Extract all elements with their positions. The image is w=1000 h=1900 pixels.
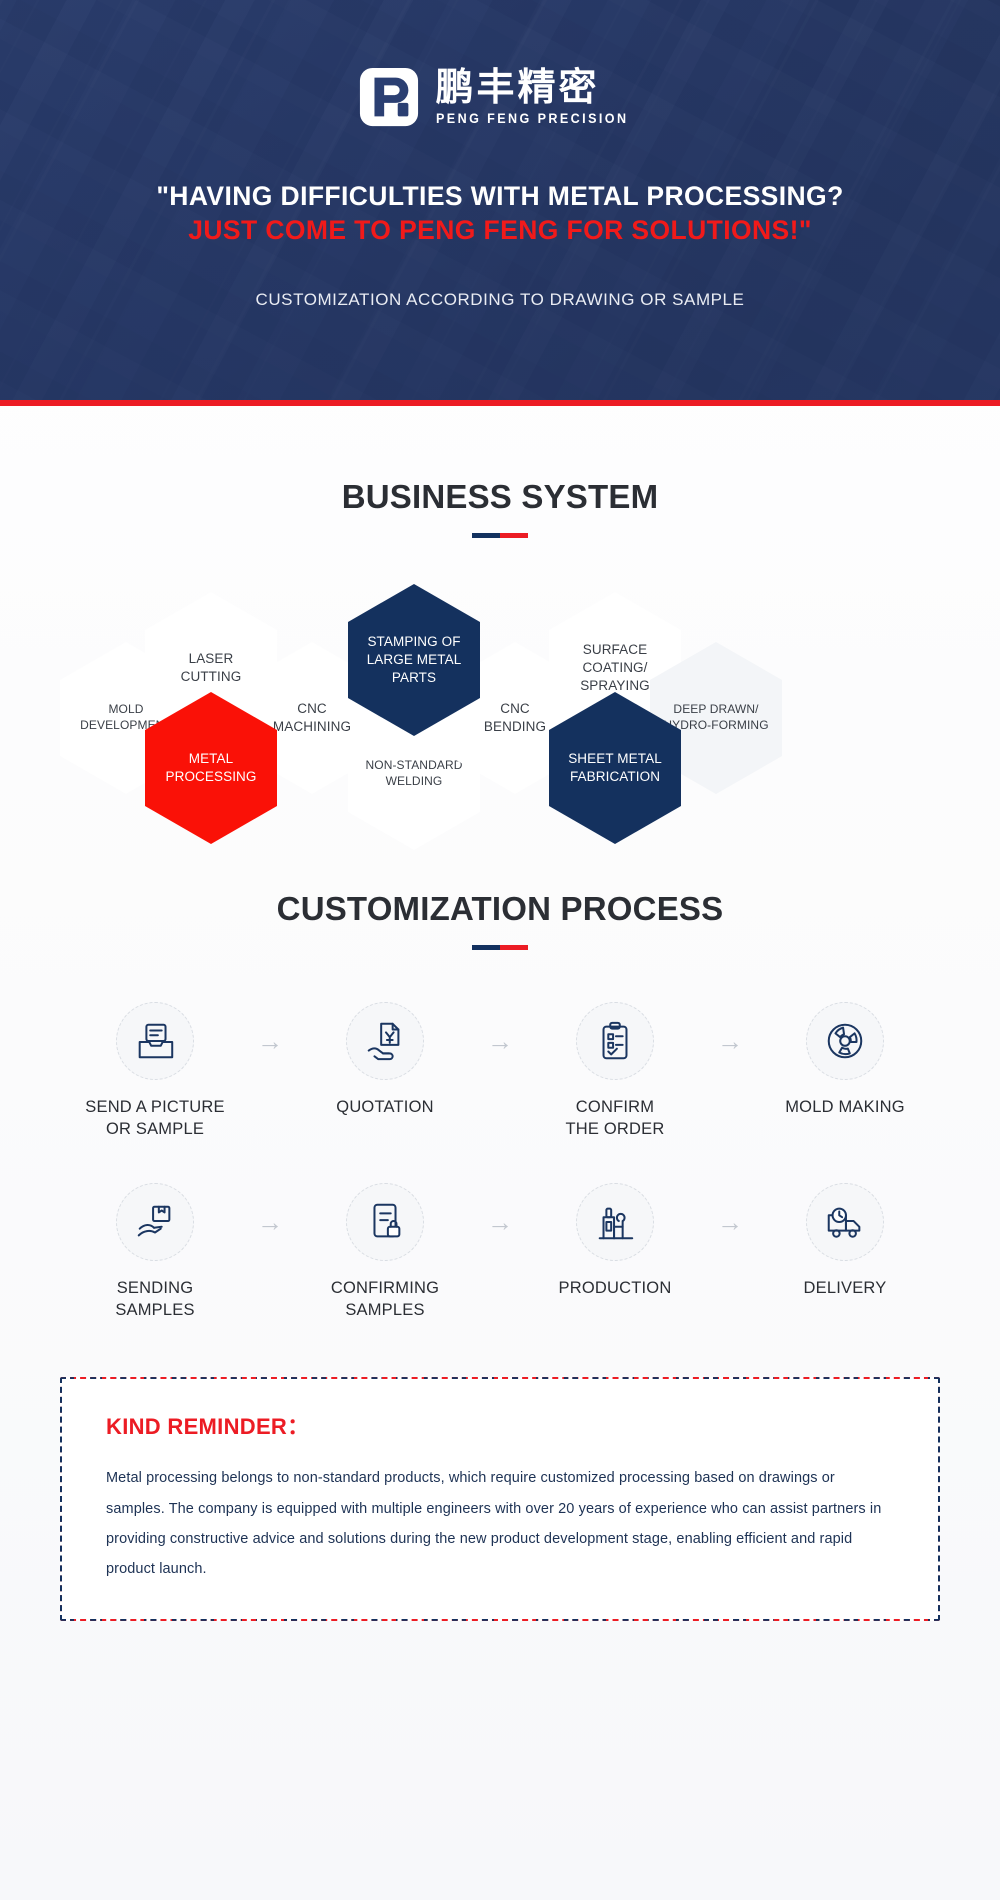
delivery-truck-icon (806, 1183, 884, 1261)
process-step[interactable]: SEND A PICTUREOR SAMPLE (70, 1002, 240, 1141)
process-step-label: QUOTATION (300, 1096, 470, 1118)
factory-machine-icon (576, 1183, 654, 1261)
hex-cell-label: METALPROCESSING (156, 750, 265, 786)
process-step-label: CONFIRMINGSAMPLES (300, 1277, 470, 1322)
hex-cell-label: CNCMACHINING (264, 700, 360, 736)
kind-reminder-section: KIND REMINDER： Metal processing belongs … (0, 1377, 1000, 1621)
divider-navy-segment (472, 533, 500, 538)
process-step[interactable]: SENDINGSAMPLES (70, 1183, 240, 1322)
mold-disc-icon (806, 1002, 884, 1080)
business-system-title-divider (472, 533, 528, 538)
process-step[interactable]: MOLD MAKING (760, 1002, 930, 1118)
hex-cell-label: SHEET METALFABRICATION (559, 750, 671, 786)
page-root: 鹏丰精密 PENG FENG PRECISION "HAVING DIFFICU… (0, 0, 1000, 1900)
hero-headline-line1: "HAVING DIFFICULTIES WITH METAL PROCESSI… (156, 181, 843, 211)
business-system-hex-grid: MOLDDEVELOPMENTLASERCUTTINGMETALPROCESSI… (0, 570, 1000, 840)
kind-reminder-title: KIND REMINDER： (106, 1409, 894, 1441)
document-lock-icon (346, 1183, 424, 1261)
customization-process-section: CUSTOMIZATION PROCESS SEND A PICTUREOR S… (0, 890, 1000, 1321)
process-arrow-icon: → (700, 1002, 760, 1080)
process-row-2: SENDINGSAMPLES→CONFIRMINGSAMPLES→PRODUCT… (0, 1183, 1000, 1322)
business-system-title: BUSINESS SYSTEM (0, 478, 1000, 516)
process-step[interactable]: DELIVERY (760, 1183, 930, 1299)
logo-chinese-name: 鹏丰精密 (436, 68, 643, 108)
hero-headline: "HAVING DIFFICULTIES WITH METAL PROCESSI… (0, 180, 1000, 248)
process-arrow-icon: → (470, 1002, 530, 1080)
process-arrow-icon: → (240, 1183, 300, 1261)
divider-red-segment (500, 533, 528, 538)
logo-english-name: PENG FENG PRECISION (436, 111, 628, 126)
hand-parcel-icon (116, 1183, 194, 1261)
clipboard-check-icon (576, 1002, 654, 1080)
hero-red-divider (0, 400, 1000, 406)
inbox-document-icon (116, 1002, 194, 1080)
process-step-label: DELIVERY (760, 1277, 930, 1299)
process-step[interactable]: CONFIRMINGSAMPLES (300, 1183, 470, 1322)
hero-banner: 鹏丰精密 PENG FENG PRECISION "HAVING DIFFICU… (0, 0, 1000, 400)
process-step[interactable]: PRODUCTION (530, 1183, 700, 1299)
hex-cell-label: LASERCUTTING (172, 650, 251, 686)
process-step-label: SEND A PICTUREOR SAMPLE (70, 1096, 240, 1141)
hex-cell-label: SURFACECOATING/SPRAYING (571, 641, 659, 695)
process-step[interactable]: QUOTATION (300, 1002, 470, 1118)
process-step-label: CONFIRMTHE ORDER (530, 1096, 700, 1141)
process-step-label: SENDINGSAMPLES (70, 1277, 240, 1322)
process-step-label: PRODUCTION (530, 1277, 700, 1299)
process-arrow-icon: → (470, 1183, 530, 1261)
process-arrow-icon: → (700, 1183, 760, 1261)
divider-red-segment (500, 945, 528, 950)
hero-subheadline: CUSTOMIZATION ACCORDING TO DRAWING OR SA… (0, 290, 1000, 310)
process-row-1: SEND A PICTUREOR SAMPLE→QUOTATION→CONFIR… (0, 1002, 1000, 1141)
hex-cell-label: CNCBENDING (475, 700, 555, 736)
business-system-section: BUSINESS SYSTEM MOLDDEVELOPMENTLASERCUTT… (0, 478, 1000, 840)
hero-headline-line2: JUST COME TO PENG FENG FOR SOLUTIONS!" (0, 214, 1000, 248)
process-step[interactable]: CONFIRMTHE ORDER (530, 1002, 700, 1141)
kind-reminder-box: KIND REMINDER： Metal processing belongs … (60, 1377, 940, 1621)
company-logo: 鹏丰精密 PENG FENG PRECISION (0, 66, 1000, 128)
pf-monogram-icon (358, 66, 420, 128)
process-arrow-icon: → (240, 1002, 300, 1080)
divider-navy-segment (472, 945, 500, 950)
hex-cell-label: STAMPING OFLARGE METALPARTS (358, 633, 471, 687)
hand-price-quote-icon (346, 1002, 424, 1080)
customization-process-title: CUSTOMIZATION PROCESS (0, 890, 1000, 928)
process-step-label: MOLD MAKING (760, 1096, 930, 1118)
kind-reminder-body: Metal processing belongs to non-standard… (106, 1463, 894, 1585)
hex-cell-label: NON-STANDARDWELDING (357, 758, 472, 790)
customization-process-title-divider (472, 945, 528, 950)
